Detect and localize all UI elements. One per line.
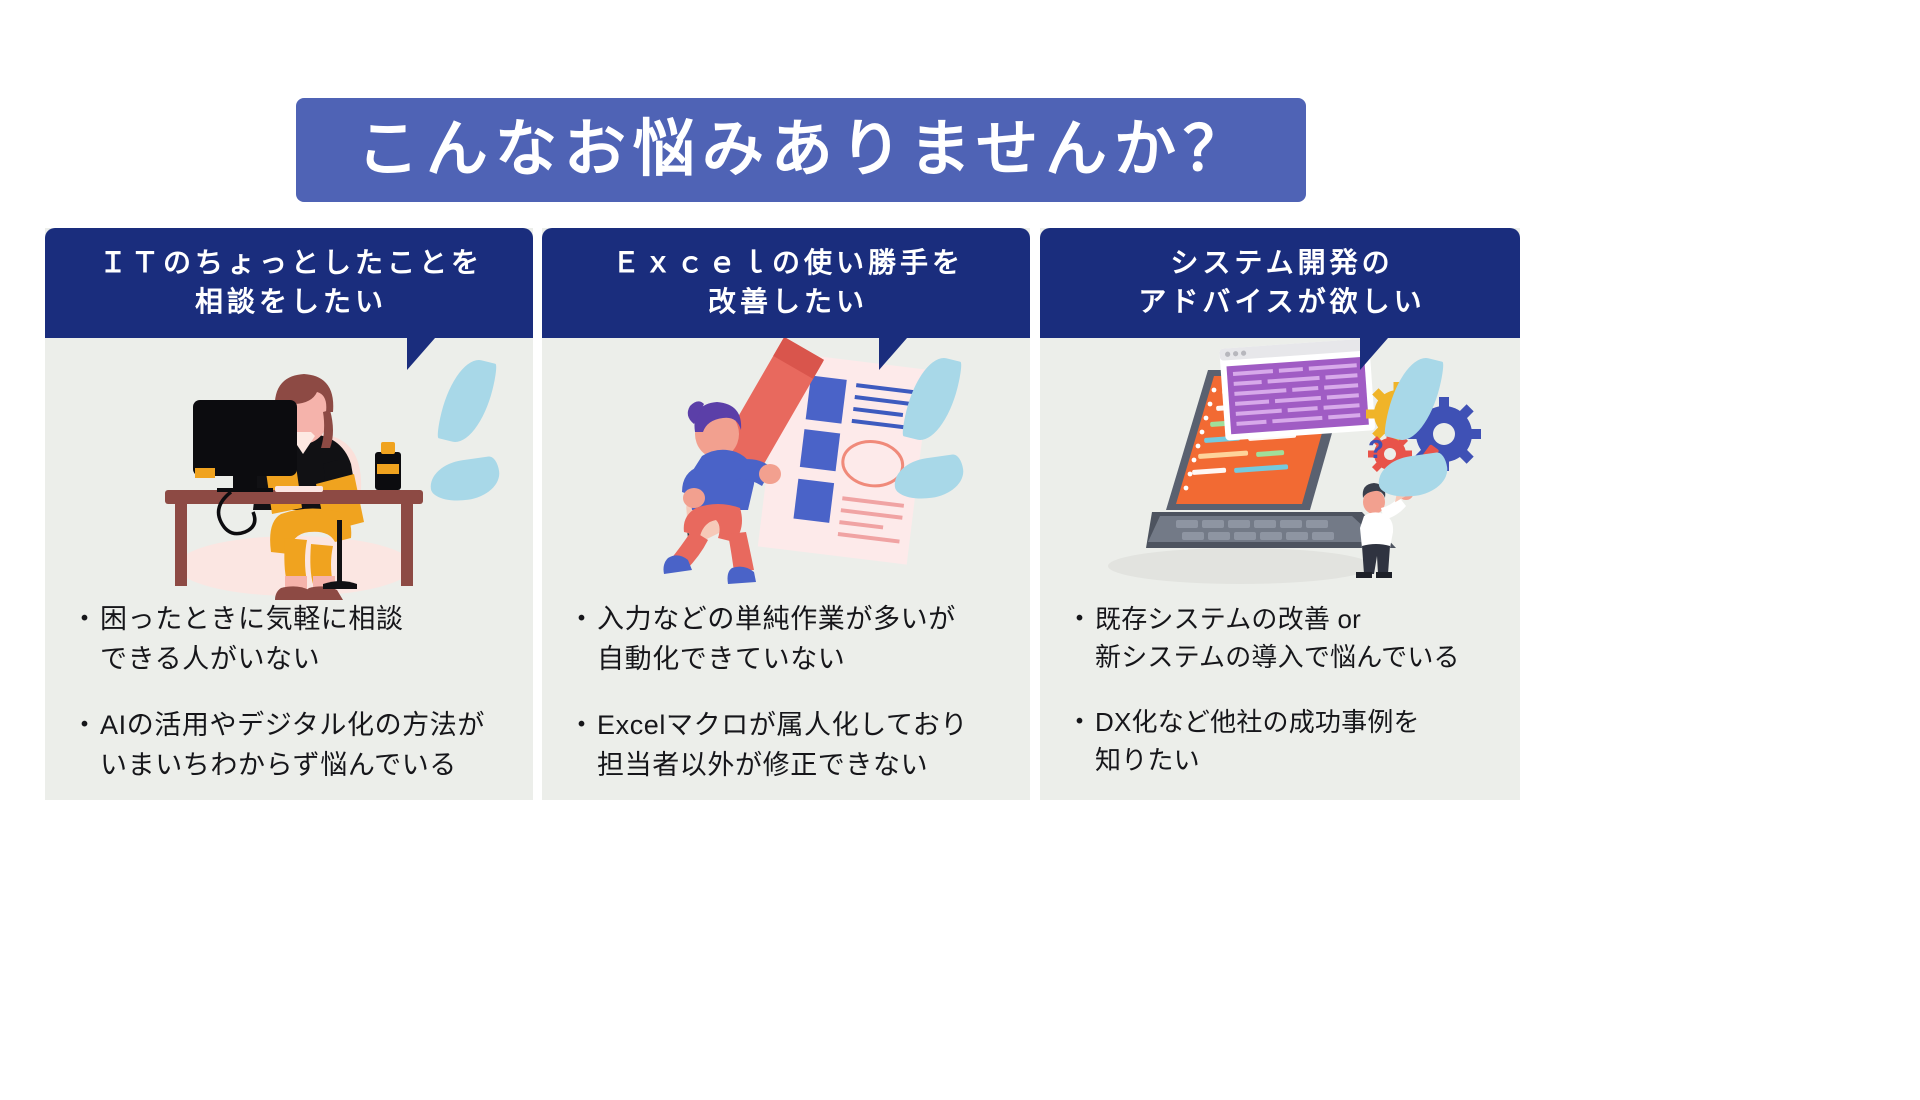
speech-bubble-tail-icon	[407, 338, 435, 370]
list-item: ・ DX化など他社の成功事例を 知りたい	[1066, 703, 1516, 780]
bullet-text: できる人がいない	[100, 640, 521, 680]
bullet-text: 自動化できていない	[597, 640, 1018, 680]
bullet-marker: ・	[1066, 703, 1093, 780]
bullet-text: 知りたい	[1095, 741, 1516, 779]
speech-bubble-tail-icon	[1360, 338, 1388, 370]
bullet-list: ・ 入力などの単純作業が多いが 自動化できていない ・ Excelマクロが属人化…	[568, 600, 1018, 812]
bullet-text: 困ったときに気軽に相談	[100, 600, 521, 640]
card-header-line: 改善したい	[704, 283, 868, 322]
card-excel-usability: Ｅｘｃｅｌの使い勝手を 改善したい ・ 入力などの単純作業が多いが 自動化できて…	[542, 228, 1030, 800]
bullet-list: ・ 既存システムの改善 or 新システムの導入で悩んでいる ・ DX化など他社の…	[1066, 600, 1516, 806]
bullet-marker: ・	[71, 706, 98, 786]
title-banner: こんなお悩みありませんか？	[296, 98, 1306, 202]
card-header-line: ＩＴのちょっとしたことを	[95, 244, 483, 283]
bullet-marker: ・	[71, 600, 98, 680]
card-header-line: 相談をしたい	[191, 283, 387, 322]
bullet-text: 新システムの導入で悩んでいる	[1095, 638, 1516, 676]
laptop-with-gears-and-person-illustration: ?	[1040, 338, 1520, 600]
bullet-text: DX化など他社の成功事例を	[1095, 703, 1516, 741]
list-item: ・ AIの活用やデジタル化の方法が いまいちわからず悩んでいる	[71, 706, 521, 786]
bullet-text: Excelマクロが属人化しており	[597, 706, 1018, 746]
list-item: ・ 既存システムの改善 or 新システムの導入で悩んでいる	[1066, 600, 1516, 677]
bullet-marker: ・	[1066, 600, 1093, 677]
card-it-consultation: ＩＴのちょっとしたことを 相談をしたい ・ 困ったときに気軽に相談 できる人がい…	[45, 228, 533, 800]
card-system-development-advice: ?	[1040, 228, 1520, 800]
card-header: システム開発の アドバイスが欲しい	[1040, 228, 1520, 338]
card-header: Ｅｘｃｅｌの使い勝手を 改善したい	[542, 228, 1030, 338]
card-header-line: システム開発の	[1166, 244, 1393, 283]
list-item: ・ Excelマクロが属人化しており 担当者以外が修正できない	[568, 706, 1018, 786]
card-header-line: Ｅｘｃｅｌの使い勝手を	[608, 244, 964, 283]
list-item: ・ 入力などの単純作業が多いが 自動化できていない	[568, 600, 1018, 680]
bullet-text: 担当者以外が修正できない	[597, 746, 1018, 786]
card-header: ＩＴのちょっとしたことを 相談をしたい	[45, 228, 533, 338]
bullet-marker: ・	[568, 706, 595, 786]
card-header-line: アドバイスが欲しい	[1134, 283, 1425, 322]
slide-canvas: こんなお悩みありませんか？	[0, 0, 1920, 1100]
bullet-text: AIの活用やデジタル化の方法が	[100, 706, 521, 746]
page-title: こんなお悩みありませんか？	[350, 119, 1252, 181]
svg-text:?: ?	[1368, 434, 1384, 464]
bullet-list: ・ 困ったときに気軽に相談 できる人がいない ・ AIの活用やデジタル化の方法が…	[71, 600, 521, 812]
speech-bubble-tail-icon	[879, 338, 907, 370]
bullet-text: 入力などの単純作業が多いが	[597, 600, 1018, 640]
list-item: ・ 困ったときに気軽に相談 できる人がいない	[71, 600, 521, 680]
bullet-text: 既存システムの改善 or	[1095, 600, 1516, 638]
bullet-text: いまいちわからず悩んでいる	[100, 746, 521, 786]
bullet-marker: ・	[568, 600, 595, 680]
